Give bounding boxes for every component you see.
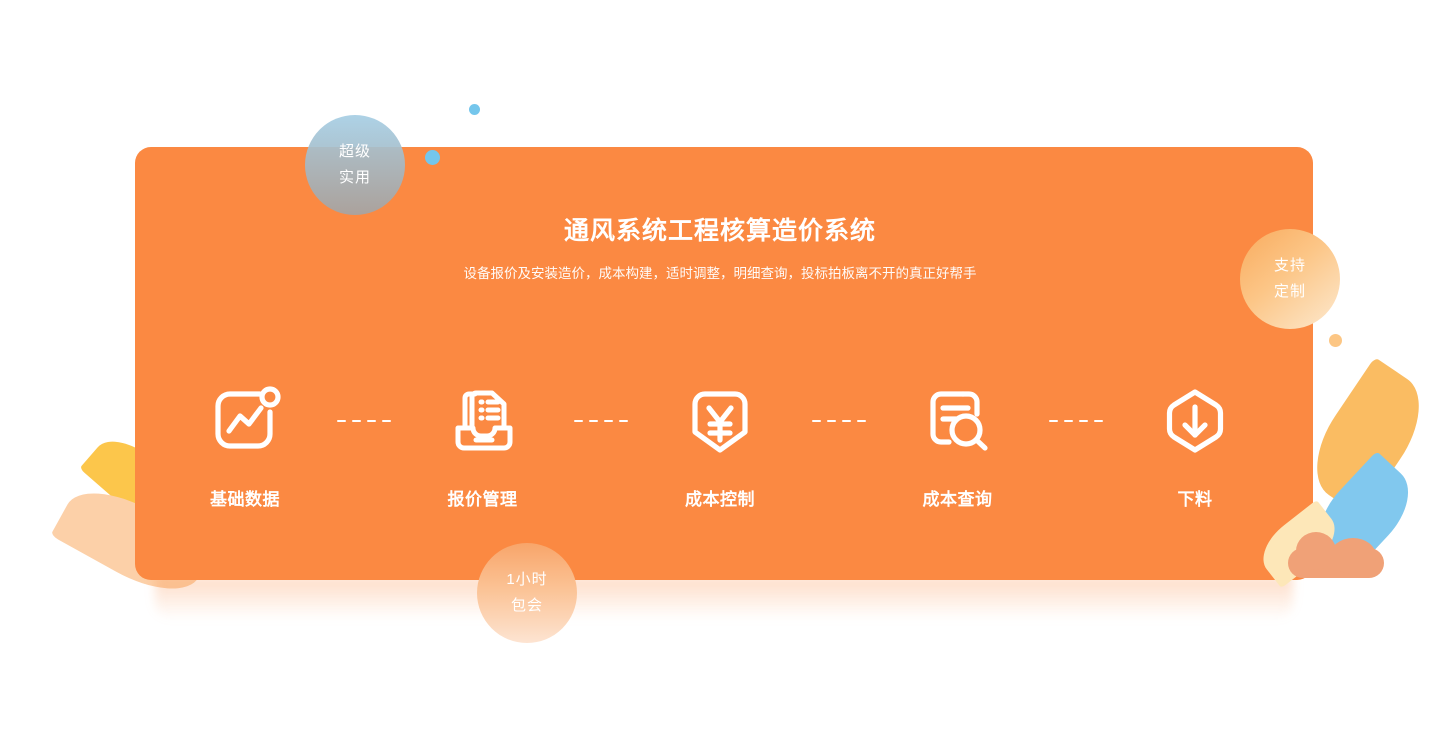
feature-item-cost-control[interactable]: 成本控制: [655, 375, 785, 510]
connector-dashes-1: [333, 375, 395, 467]
cloud-lobe-right: [1330, 538, 1376, 574]
connector-dashes-4: [1045, 375, 1107, 467]
card-shadow: [155, 576, 1293, 620]
badge-line-2: 包会: [511, 593, 543, 619]
badge-one-hour-guarantee: 1小时 包会: [477, 543, 577, 643]
blue-dot-large-icon: [425, 150, 440, 165]
feature-label: 报价管理: [448, 485, 518, 510]
hexagon-download-icon: [1149, 375, 1241, 467]
document-search-icon: [912, 375, 1004, 467]
badge-supports-customization: 支持 定制: [1240, 229, 1340, 329]
leaf-right-orange-icon: [1297, 357, 1440, 517]
badge-line-2: 定制: [1274, 279, 1306, 305]
yuan-banner-icon: [674, 375, 766, 467]
orange-dot-icon: [1329, 334, 1342, 347]
inbox-documents-icon: [437, 375, 529, 467]
badge-line-2: 实用: [339, 165, 371, 191]
badge-super-useful: 超级 实用: [305, 115, 405, 215]
feature-label: 成本控制: [685, 485, 755, 510]
badge-line-1: 支持: [1274, 253, 1306, 279]
feature-item-quote-management[interactable]: 报价管理: [418, 375, 548, 510]
feature-label: 基础数据: [210, 485, 280, 510]
badge-line-1: 1小时: [506, 567, 547, 593]
blue-dot-small-icon: [469, 104, 480, 115]
promo-banner: 通风系统工程核算造价系统 设备报价及安装造价，成本构建，适时调整，明细查询，投标…: [0, 0, 1440, 730]
feature-list: 基础数据 报价管理: [180, 375, 1260, 525]
feature-item-cost-query[interactable]: 成本查询: [893, 375, 1023, 510]
connector-dashes-2: [570, 375, 632, 467]
page-subtitle: 设备报价及安装造价，成本构建，适时调整，明细查询，投标拍板离不开的真正好帮手: [460, 262, 980, 285]
connector-dashes-3: [808, 375, 870, 467]
feature-item-material-cutting[interactable]: 下料: [1130, 375, 1260, 510]
leaf-right-blue-icon: [1303, 451, 1425, 575]
feature-label: 成本查询: [923, 485, 993, 510]
badge-line-1: 超级: [339, 139, 371, 165]
chart-square-icon: [199, 375, 291, 467]
page-title: 通风系统工程核算造价系统: [0, 214, 1440, 248]
feature-label: 下料: [1178, 485, 1213, 510]
feature-item-basic-data[interactable]: 基础数据: [180, 375, 310, 510]
